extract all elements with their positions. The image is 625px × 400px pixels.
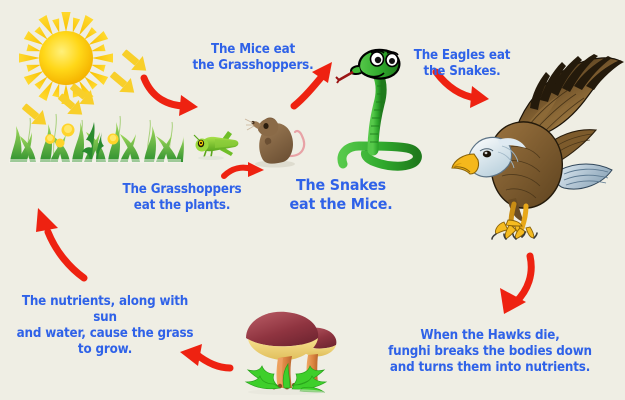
caption-hawks-die-funghi: When the Hawks die, funghi breaks the bo… <box>383 328 596 376</box>
caption-grasshoppers-eat-plants: The Grasshoppers eat the plants. <box>116 182 248 214</box>
arrow-grass-to-grasshopper-icon <box>138 68 214 120</box>
caption-eagles-eat-snakes: The Eagles eat the Snakes. <box>403 48 521 80</box>
arrow-eagle-to-funghi-icon <box>486 252 546 324</box>
mushrooms-icon <box>234 300 354 395</box>
food-chain-diagram: The Mice eat the Grasshoppers. The Eagle… <box>0 0 625 400</box>
caption-mice-eat-grasshoppers: The Mice eat the Grasshoppers. <box>184 42 322 74</box>
caption-snakes-eat-mice: The Snakes eat the Mice. <box>283 176 399 214</box>
grasshopper-icon <box>193 122 245 162</box>
arrow-nutrients-to-grass-icon <box>22 202 94 284</box>
caption-nutrients-grass-grow: The nutrients, along with sun and water,… <box>13 294 197 358</box>
